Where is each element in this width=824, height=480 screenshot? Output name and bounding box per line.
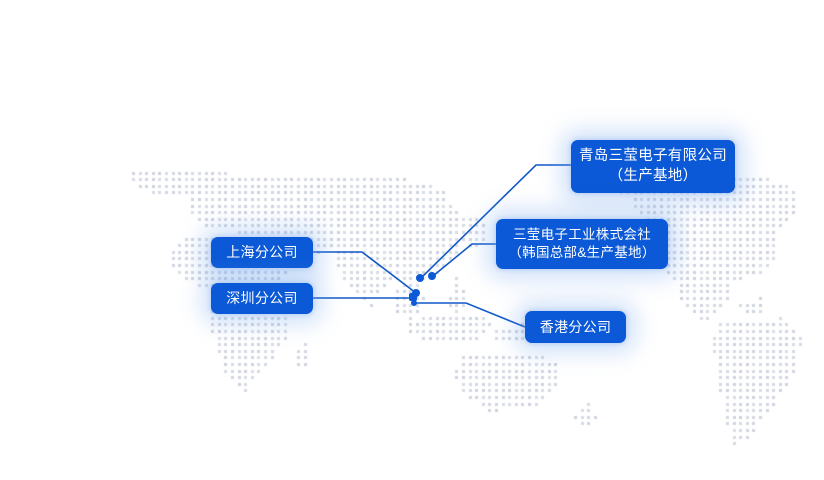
connector-shanghai <box>313 252 416 293</box>
label-box-hongkong[interactable]: 香港分公司 <box>525 311 626 343</box>
label-line-1: 上海分公司 <box>226 243 298 261</box>
label-box-shenzhen[interactable]: 深圳分公司 <box>211 283 313 314</box>
connector-lines <box>0 0 824 480</box>
label-line-2: （韩国总部&生产基地） <box>508 244 655 262</box>
label-line-1: 深圳分公司 <box>226 289 298 307</box>
label-line-1: 三莹电子工业株式会社 <box>513 226 651 244</box>
connector-hongkong <box>414 303 525 327</box>
node-dot-hongkong[interactable] <box>411 300 417 306</box>
label-box-korea[interactable]: 三莹电子工业株式会社 （韩国总部&生产基地） <box>496 219 668 269</box>
label-line-1: 青岛三莹电子有限公司 <box>579 147 727 166</box>
label-line-1: 香港分公司 <box>540 318 612 336</box>
node-dot-korea[interactable] <box>428 272 436 280</box>
map-infographic: 青岛三莹电子有限公司 （生产基地） 三莹电子工业株式会社 （韩国总部&生产基地）… <box>0 0 824 480</box>
connector-korea <box>433 244 496 276</box>
label-line-2: （生产基地） <box>609 167 698 186</box>
label-box-shanghai[interactable]: 上海分公司 <box>211 237 313 268</box>
label-box-qingdao[interactable]: 青岛三莹电子有限公司 （生产基地） <box>571 140 735 193</box>
node-dot-qingdao[interactable] <box>416 274 424 282</box>
